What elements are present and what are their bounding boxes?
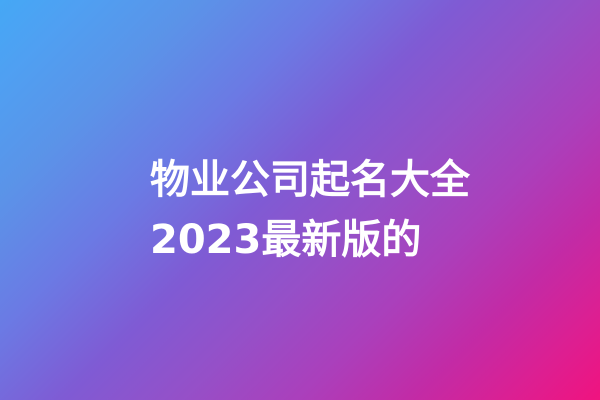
banner-title: 物业公司起名大全 2023最新版的: [150, 150, 550, 270]
banner-title-line-1: 物业公司起名大全: [150, 150, 550, 210]
gradient-banner: 物业公司起名大全 2023最新版的: [0, 0, 600, 400]
banner-title-line-2: 2023最新版的: [150, 210, 550, 270]
